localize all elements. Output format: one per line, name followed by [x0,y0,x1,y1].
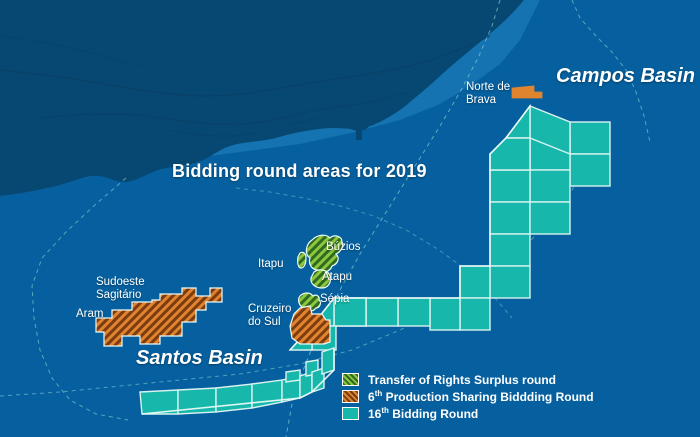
legend-swatch-green-hatch-icon [342,373,359,386]
legend-prefix-2: 6 [368,390,375,404]
legend-text-3: Bidding Round [389,407,478,421]
legend-swatch-orange-hatch-icon [342,390,359,403]
legend-text-2: Production Sharing Biddding Round [382,390,593,404]
legend: Transfer of Rights Surplus round 6th Pro… [338,368,608,426]
legend-label-transfer-of-rights: Transfer of Rights Surplus round [368,373,556,387]
field-shape-itapu [298,252,306,268]
legend-item-sixth-round: 6th Production Sharing Biddding Round [342,388,604,405]
legend-prefix-3: 16 [368,407,381,421]
field-shape-atapu [311,270,331,288]
peninsula-neck [356,128,362,140]
legend-swatch-teal-solid-icon [342,407,359,420]
legend-item-sixteenth-round: 16th Bidding Round [342,405,604,422]
legend-sup-3: th [381,406,389,415]
legend-label-sixth-round: 6th Production Sharing Biddding Round [368,389,594,404]
bidding-round-map: Bidding round areas for 2019 Campos Basi… [0,0,700,437]
legend-item-transfer-of-rights: Transfer of Rights Surplus round [342,371,604,388]
legend-text-1: Transfer of Rights Surplus round [368,373,556,387]
legend-label-sixteenth-round: 16th Bidding Round [368,406,478,421]
